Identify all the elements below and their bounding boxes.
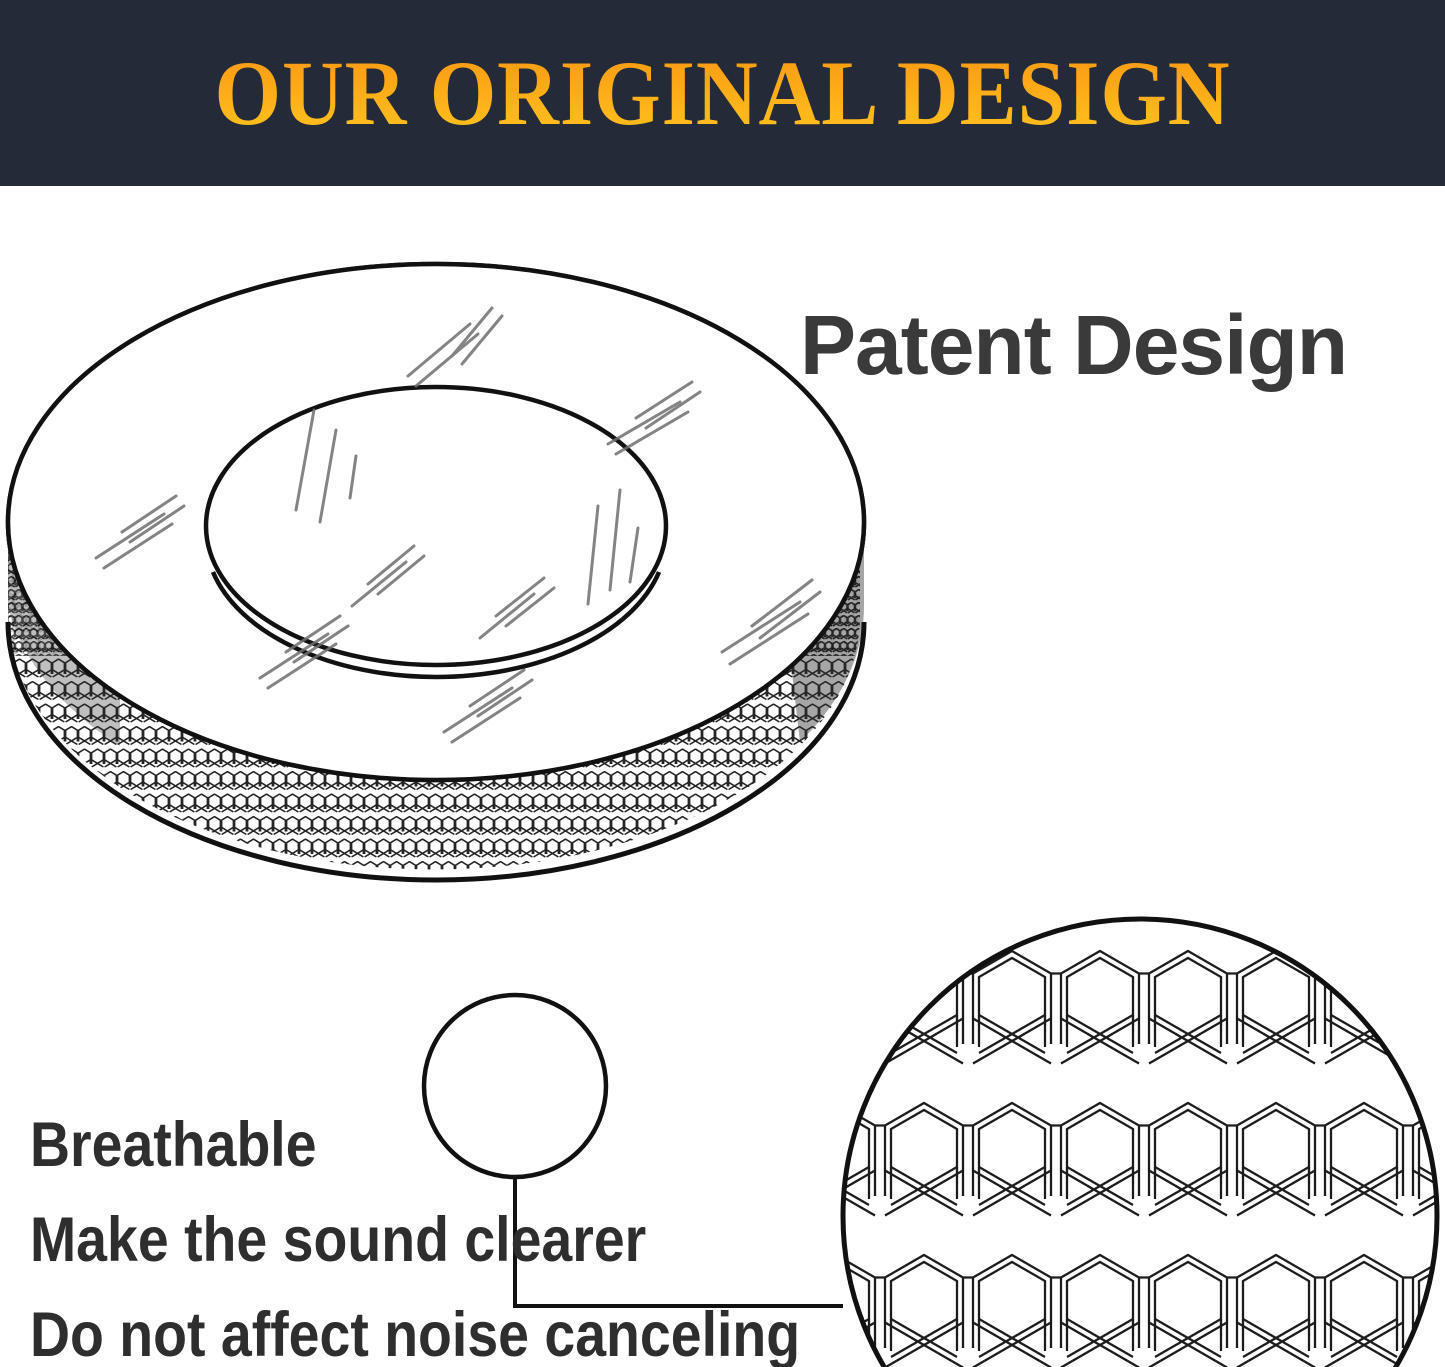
feature-list: Breathable Make the sound clearer Do not… (30, 1098, 1010, 1367)
feature-item-noise-canceling: Do not affect noise canceling (30, 1288, 892, 1367)
page-title: Patent Design (800, 303, 1347, 387)
banner-title: OUR ORIGINAL DESIGN (51, 0, 1395, 186)
ear-pad-ring-drawing (8, 264, 880, 1177)
header-banner: OUR ORIGINAL DESIGN (0, 0, 1445, 186)
feature-item-sound-clearer: Make the sound clearer (30, 1193, 892, 1288)
feature-item-breathable: Breathable (30, 1098, 892, 1193)
infographic-page: OUR ORIGINAL DESIGN (0, 0, 1445, 1367)
